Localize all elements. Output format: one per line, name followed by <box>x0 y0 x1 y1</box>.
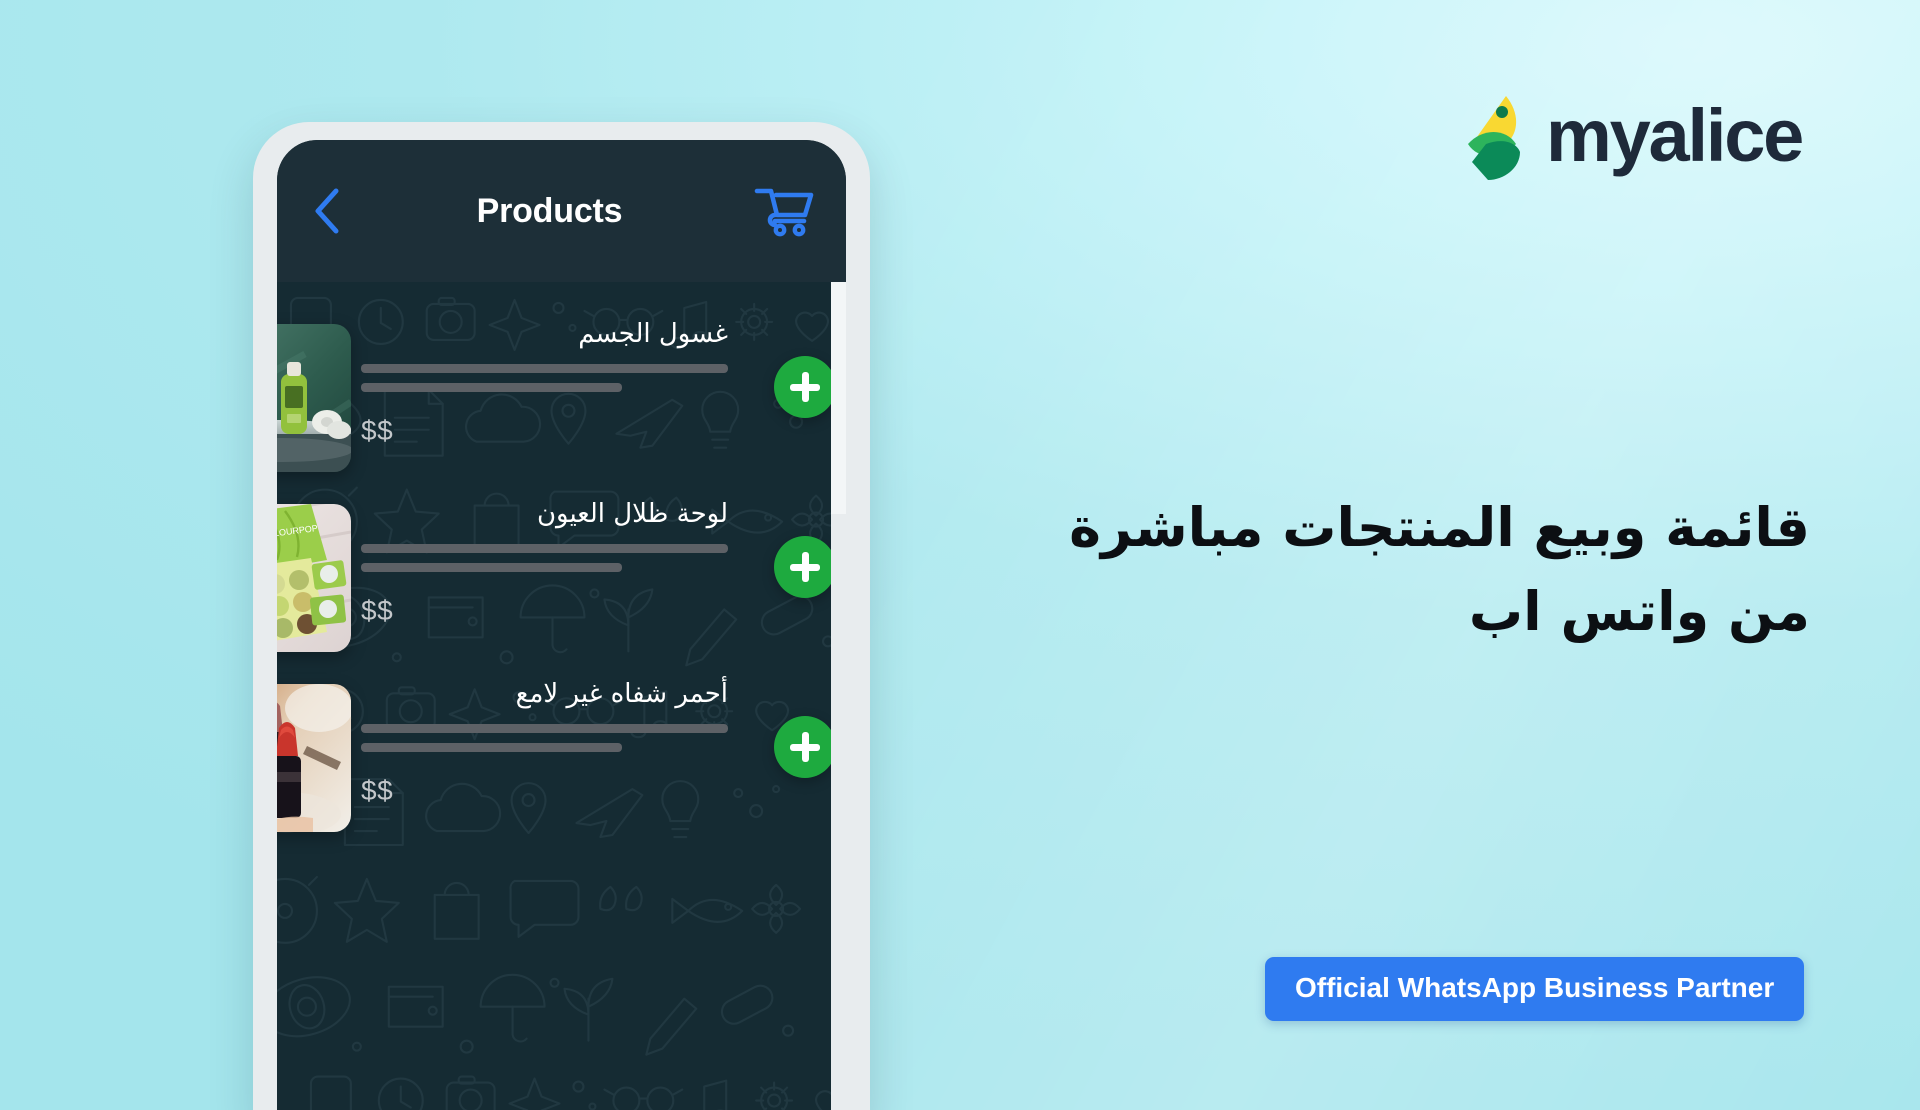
product-info: لوحة ظلال العيون $$ <box>361 498 728 627</box>
app-header: Products <box>277 140 846 282</box>
product-row[interactable]: COLOURPOP <box>277 488 846 668</box>
product-price: $$ <box>361 595 728 627</box>
product-screen-body: غسول الجسم $$ <box>277 282 846 1110</box>
description-placeholder-bar <box>361 563 622 572</box>
matte-lipstick-photo <box>277 684 351 832</box>
description-placeholder-bar <box>361 743 622 752</box>
add-to-cart-button[interactable] <box>774 356 836 418</box>
chevron-left-icon <box>312 187 342 235</box>
page-title: Products <box>349 192 750 231</box>
back-button[interactable] <box>299 183 355 239</box>
shopping-cart-icon <box>754 183 816 239</box>
plus-icon <box>790 384 820 391</box>
product-info: غسول الجسم $$ <box>361 318 728 447</box>
product-name: لوحة ظلال العيون <box>361 498 728 531</box>
description-placeholder-bar <box>361 364 728 373</box>
product-name: أحمر شفاه غير لامع <box>361 678 728 711</box>
product-thumbnail <box>277 684 351 832</box>
product-name: غسول الجسم <box>361 318 728 351</box>
phone-mockup: Products <box>253 122 870 1110</box>
product-thumbnail: COLOURPOP <box>277 504 351 652</box>
product-row[interactable]: أحمر شفاه غير لامع $$ <box>277 668 846 848</box>
plus-icon <box>790 564 820 571</box>
phone-screen: Products <box>277 140 846 1110</box>
headline-text: قائمة وبيع المنتجات مباشرة من واتس اب <box>1010 486 1810 653</box>
eyeshadow-palette-photo: COLOURPOP <box>277 504 351 652</box>
description-placeholder-bar <box>361 383 622 392</box>
product-thumbnail <box>277 324 351 472</box>
brand-logo: myalice <box>1462 92 1802 180</box>
product-row[interactable]: غسول الجسم $$ <box>277 308 846 488</box>
myalice-bird-logo-icon <box>1462 92 1528 180</box>
body-wash-bottles-photo <box>277 324 351 472</box>
add-to-cart-button[interactable] <box>774 536 836 598</box>
description-placeholder-bar <box>361 724 728 733</box>
brand-wordmark: myalice <box>1546 99 1802 173</box>
product-price: $$ <box>361 775 728 807</box>
cart-button[interactable] <box>750 180 820 242</box>
partner-badge[interactable]: Official WhatsApp Business Partner <box>1265 957 1804 1021</box>
product-list: غسول الجسم $$ <box>277 282 846 848</box>
scrollbar-thumb[interactable] <box>831 282 846 514</box>
product-info: أحمر شفاه غير لامع $$ <box>361 678 728 807</box>
add-to-cart-button[interactable] <box>774 716 836 778</box>
plus-icon <box>790 744 820 751</box>
product-price: $$ <box>361 415 728 447</box>
description-placeholder-bar <box>361 544 728 553</box>
